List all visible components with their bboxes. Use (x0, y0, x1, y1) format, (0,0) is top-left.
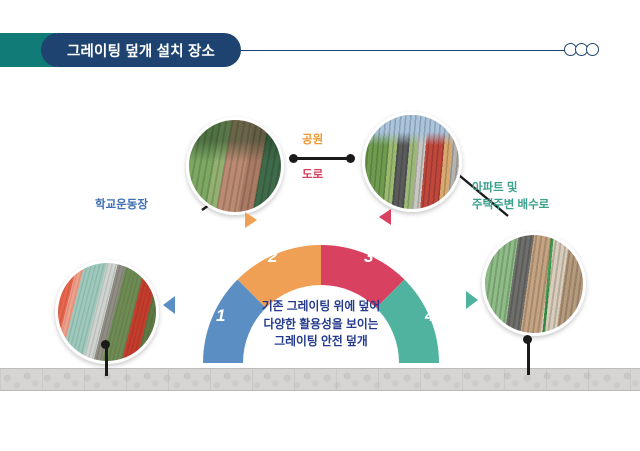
apartment-drain-photo (482, 232, 586, 336)
header-divider-line (236, 50, 566, 52)
page-title-pill: 그레이팅 덮개 설치 장소 (41, 33, 241, 67)
road-photo-image (365, 115, 459, 209)
callout-label-road: 도로 (302, 168, 323, 183)
center-description-line-2: 다양한 활용성을 보이는 (232, 316, 410, 334)
header-dots-decoration (564, 43, 599, 56)
callout-label-apartment-line-1: 아파트 및 (472, 180, 549, 197)
pointer-triangle-road (379, 209, 391, 225)
pin-knob-icon (346, 154, 355, 163)
arc-number-4: 4 (425, 306, 434, 326)
slide-canvas: 그레이팅 덮개 설치 장소 (0, 0, 640, 451)
road-photo (362, 112, 462, 212)
circle-icon (586, 43, 599, 56)
callout-label-park: 공원 (302, 133, 323, 148)
pointer-triangle-school (163, 296, 175, 314)
pointer-triangle-apartment (466, 291, 478, 309)
footer: (주) 빅스토어 Everything you need ※ 기타 자세한 사양… (0, 397, 640, 451)
pin-connector-apartment (522, 335, 536, 377)
sports-field-photo-image (189, 120, 281, 212)
arc-number-1: 1 (216, 306, 225, 326)
arc-number-2: 2 (268, 247, 277, 267)
center-description-line-1: 기존 그레이팅 위에 덮어 (232, 298, 410, 316)
callout-label-apartment-line-2: 주택주변 배수로 (472, 197, 549, 214)
pin-connector-school (100, 340, 114, 378)
arc-number-3: 3 (364, 247, 373, 267)
callout-label-apartment: 아파트 및 주택주변 배수로 (472, 180, 549, 213)
pin-stem (294, 157, 350, 160)
pointer-triangle-park (245, 212, 257, 228)
pin-stem (527, 341, 530, 375)
pin-connector-park-road (289, 152, 355, 164)
page-title: 그레이팅 덮개 설치 장소 (67, 40, 215, 61)
pin-stem (105, 346, 108, 376)
center-description: 기존 그레이팅 위에 덮어 다양한 활용성을 보이는 그레이팅 안전 덮개 (232, 298, 410, 351)
callout-label-school: 학교운동장 (95, 198, 148, 213)
sports-field-photo (186, 117, 284, 215)
apartment-drain-photo-image (485, 235, 583, 333)
center-description-line-3: 그레이팅 안전 덮개 (232, 333, 410, 351)
